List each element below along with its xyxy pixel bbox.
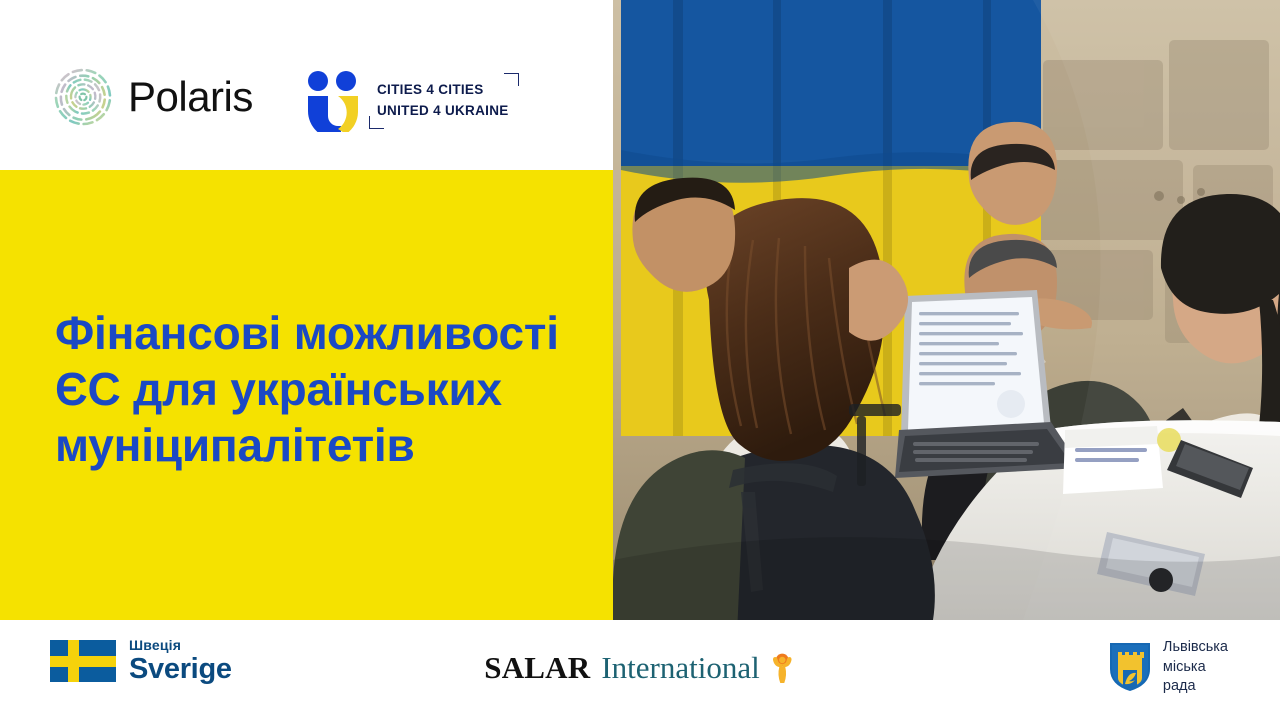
meeting-photo [613,0,1280,620]
sweden-label-uk: Швеція [129,638,232,652]
polaris-logo: Polaris [52,66,253,128]
cities4cities-text-bracket: CITIES 4 CITIES UNITED 4 UKRAINE [369,73,519,129]
presentation-slide: Polaris CITIES 4 CITIES UNITED 4 UKRAINE… [0,0,1280,720]
lviv-coat-of-arms-icon [1109,642,1151,692]
cities4cities-line2: UNITED 4 UKRAINE [377,101,509,122]
salar-figure-icon [766,652,796,684]
slide-title: Фінансові можливості ЄС для українських … [55,305,595,473]
lviv-label-line3: рада [1163,677,1228,697]
lviv-city-council-logo: Львівська міська рада [1109,638,1228,697]
two-people-u-icon [305,70,361,132]
footer-band: Швеція Sverige SALAR International [0,620,1280,720]
lviv-label: Львівська міська рада [1163,638,1228,697]
salar-international-logo: SALAR International [484,650,795,686]
polaris-wordmark: Polaris [128,76,253,118]
polaris-spiral-icon [52,66,114,128]
salar-wordmark-regular: International [601,650,759,686]
lviv-label-line1: Львівська [1163,638,1228,658]
sweden-flag-icon [50,640,116,682]
sweden-logo: Швеція Sverige [50,638,232,684]
header-band: Polaris CITIES 4 CITIES UNITED 4 UKRAINE [0,0,613,170]
sweden-label-sv: Sverige [129,655,232,684]
lviv-label-line2: міська [1163,658,1228,678]
cities4cities-logo: CITIES 4 CITIES UNITED 4 UKRAINE [305,70,519,132]
sweden-label: Швеція Sverige [129,638,232,684]
salar-wordmark-bold: SALAR [484,650,590,686]
cities4cities-line1: CITIES 4 CITIES [377,80,509,101]
